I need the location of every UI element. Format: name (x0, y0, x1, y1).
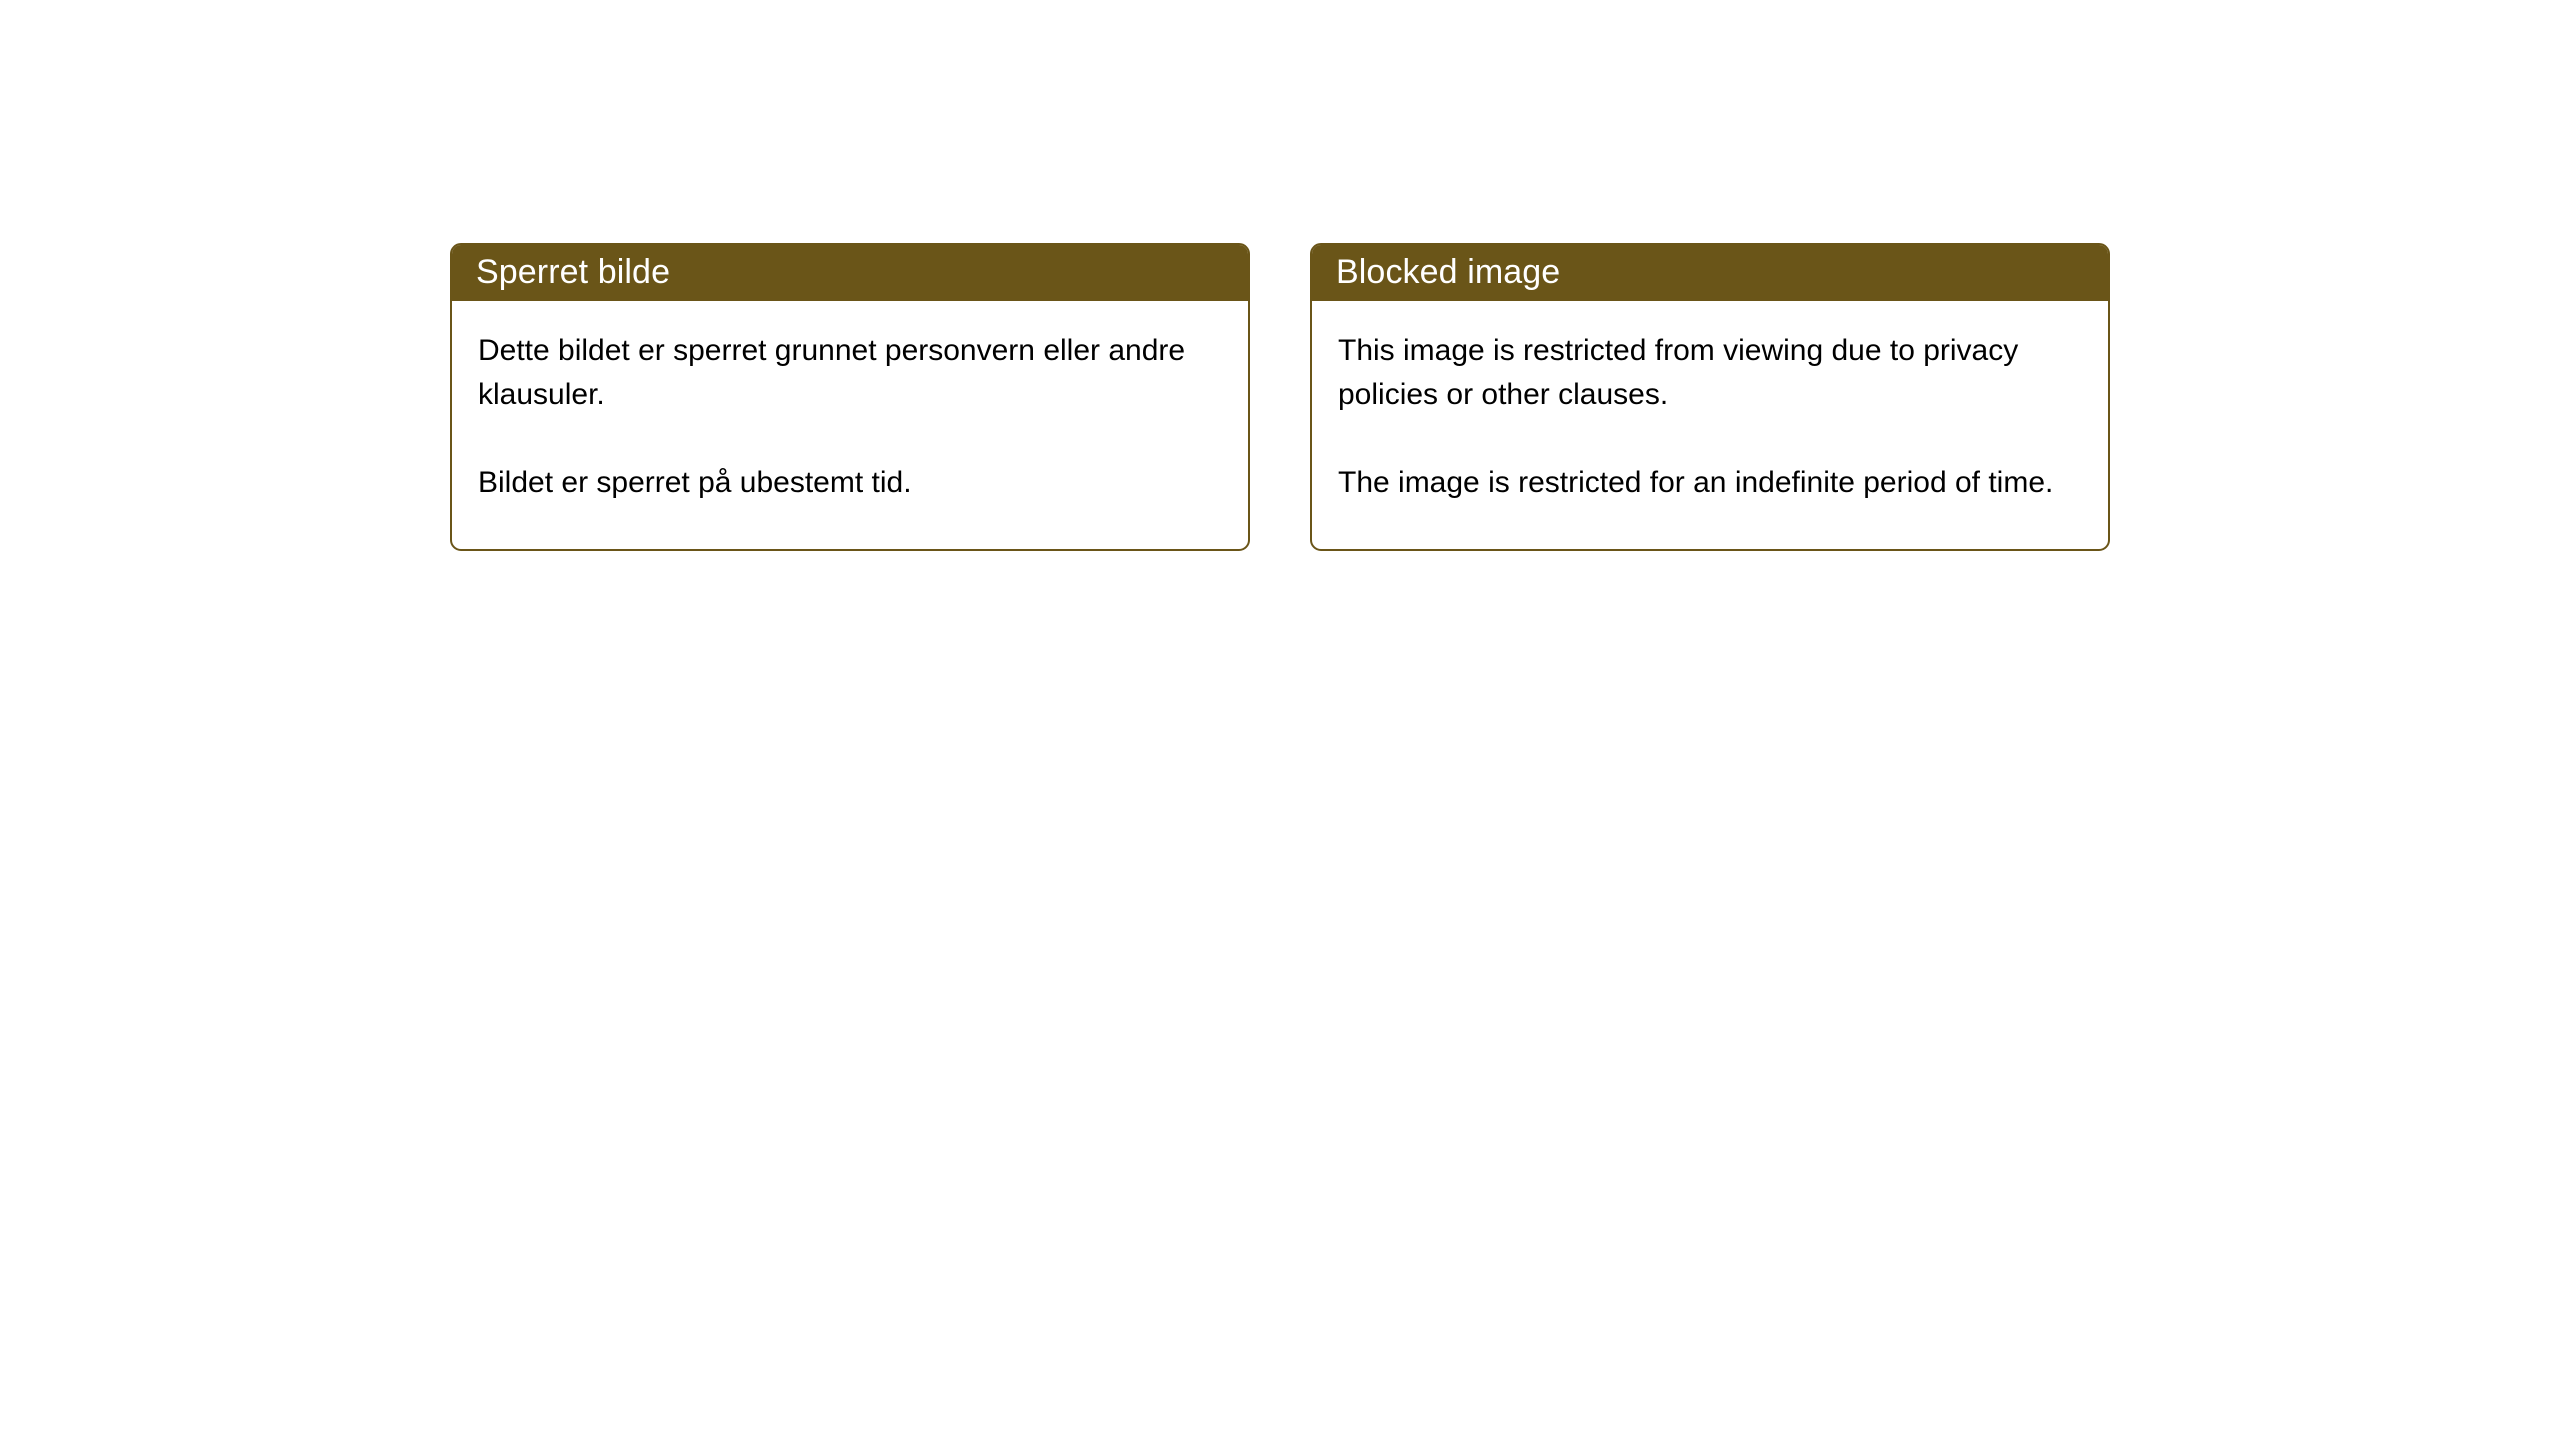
card-title-english: Blocked image (1336, 255, 1560, 289)
card-header-norwegian: Sperret bilde (450, 243, 1250, 301)
card-title-norwegian: Sperret bilde (476, 255, 670, 289)
card-paragraph-reason-norwegian: Dette bildet er sperret grunnet personve… (478, 329, 1208, 417)
blocked-image-card-norwegian: Sperret bilde Dette bildet er sperret gr… (450, 243, 1250, 551)
card-paragraph-reason-english: This image is restricted from viewing du… (1338, 329, 2068, 417)
blocked-image-card-english: Blocked image This image is restricted f… (1310, 243, 2110, 551)
card-paragraph-duration-norwegian: Bildet er sperret på ubestemt tid. (478, 461, 1208, 505)
card-paragraph-duration-english: The image is restricted for an indefinit… (1338, 461, 2068, 505)
card-header-english: Blocked image (1310, 243, 2110, 301)
card-body-english: This image is restricted from viewing du… (1312, 301, 2108, 549)
page-root: { "page": { "background_color": "#ffffff… (0, 0, 2560, 1440)
blocked-image-notices: Sperret bilde Dette bildet er sperret gr… (450, 243, 2110, 551)
card-body-norwegian: Dette bildet er sperret grunnet personve… (452, 301, 1248, 549)
